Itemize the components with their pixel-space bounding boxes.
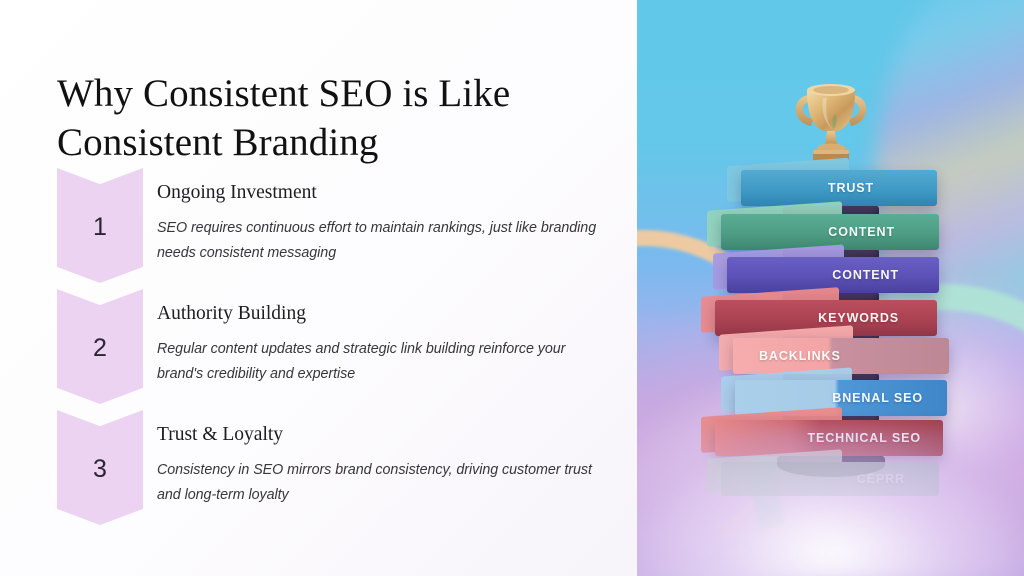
seo-block-label: TRUST — [828, 181, 874, 195]
step-description: Regular content updates and strategic li… — [157, 337, 609, 387]
step-description: Consistency in SEO mirrors brand consist… — [157, 458, 609, 508]
step-heading: Trust & Loyalty — [157, 423, 609, 447]
step-number: 1 — [93, 211, 107, 240]
step-badge-1: 1 — [57, 168, 143, 283]
step-heading: Ongoing Investment — [157, 181, 609, 205]
step-text-2: Authority Building Regular content updat… — [157, 302, 609, 387]
list-item: 3 Trust & Loyalty Consistency in SEO mir… — [0, 410, 637, 530]
seo-block: CEPRR — [721, 462, 939, 496]
slide-root: Why Consistent SEO is Like Consistent Br… — [0, 0, 1024, 576]
step-description: SEO requires continuous effort to mainta… — [157, 216, 609, 266]
seo-block-label: BNENAL SEO — [832, 391, 923, 405]
seo-block-label: TECHNICAL SEO — [807, 431, 921, 445]
seo-block-label: CONTENT — [828, 225, 895, 239]
content-panel: Why Consistent SEO is Like Consistent Br… — [0, 0, 637, 576]
seo-block-label: KEYWORDS — [818, 311, 899, 325]
step-text-1: Ongoing Investment SEO requires continuo… — [157, 181, 609, 266]
step-number: 3 — [93, 453, 107, 482]
seo-block-label: CONTENT — [832, 268, 899, 282]
step-heading: Authority Building — [157, 302, 609, 326]
illustration-panel: TRUST CONTENT CONTENT K — [637, 0, 1024, 576]
step-text-3: Trust & Loyalty Consistency in SEO mirro… — [157, 423, 609, 508]
steps-list: 1 Ongoing Investment SEO requires contin… — [0, 168, 637, 531]
seo-block-stack: TRUST CONTENT CONTENT K — [637, 0, 1024, 576]
seo-block-label: CEPRR — [857, 472, 905, 486]
step-number: 2 — [93, 332, 107, 361]
list-item: 1 Ongoing Investment SEO requires contin… — [0, 168, 637, 288]
list-item: 2 Authority Building Regular content upd… — [0, 289, 637, 409]
step-badge-3: 3 — [57, 410, 143, 525]
page-title: Why Consistent SEO is Like Consistent Br… — [57, 69, 587, 167]
step-badge-2: 2 — [57, 289, 143, 404]
seo-block-label: BACKLINKS — [759, 349, 841, 363]
